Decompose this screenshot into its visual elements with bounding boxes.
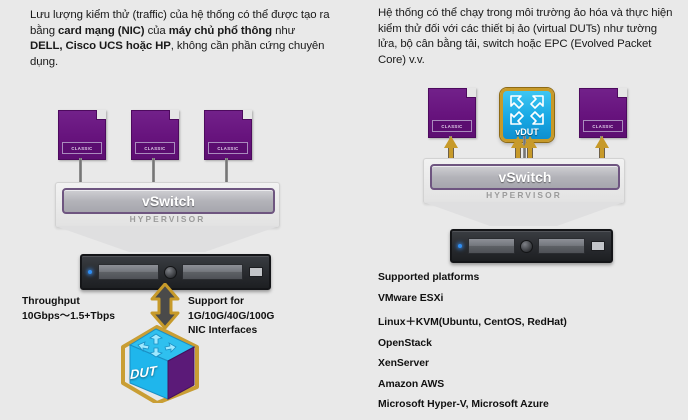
platform-item: Linux＋KVM(Ubuntu, CentOS, RedHat) (378, 313, 567, 328)
page-fold-corner-icon (169, 110, 179, 120)
knob-icon (520, 240, 533, 253)
supported-platforms-list: Supported platforms VMware ESXi Linux＋KV… (378, 272, 567, 420)
throughput-title: Throughput (22, 296, 80, 307)
drive-bay-1 (468, 238, 515, 254)
hypervisor-label: HYPERVISOR (56, 214, 279, 224)
platform-item: VMware ESXi (378, 293, 567, 304)
left-description-paragraph: Lưu lượng kiểm thử (traffic) của hệ thốn… (30, 8, 330, 70)
drive-bay-1 (98, 264, 159, 280)
drive-bay-2 (538, 238, 585, 254)
page-fold-corner-icon (617, 88, 627, 98)
hypervisor-funnel (55, 226, 279, 252)
left-panel: Lưu lượng kiểm thử (traffic) của hệ thốn… (0, 0, 360, 404)
right-panel: Hệ thống có thể chạy trong môi trường ảo… (360, 0, 688, 404)
dut-cube[interactable]: DUT (118, 325, 204, 403)
page-fold-corner-icon (96, 110, 106, 120)
right-description-paragraph: Hệ thống có thể chạy trong môi trường ảo… (378, 6, 678, 68)
power-led-icon (88, 270, 92, 274)
vm-box-classic-2[interactable]: CLASSIC (131, 110, 179, 160)
platform-item: Microsoft Hyper-V, Microsoft Azure (378, 399, 567, 410)
dut-cube-shape (118, 325, 204, 403)
vm-tag-label: CLASSIC (62, 142, 102, 154)
hypervisor-label: HYPERVISOR (424, 190, 624, 200)
support-line-2: 1G/10G/40G/100G (188, 311, 274, 322)
platform-item: Amazon AWS (378, 379, 567, 390)
vm-tag-label: CLASSIC (135, 142, 175, 154)
port-icon (249, 267, 263, 277)
vm-box-classic-1[interactable]: CLASSIC (58, 110, 106, 160)
vm-box-classic-3[interactable]: CLASSIC (204, 110, 252, 160)
drive-bay-2 (182, 264, 243, 280)
four-way-arrows-icon (508, 93, 546, 127)
throughput-value: 10Gbps～1.5+Tbps (22, 311, 115, 322)
port-icon (591, 241, 605, 251)
support-line-1: Support for (188, 296, 244, 307)
platform-item: XenServer (378, 358, 567, 369)
platform-item: OpenStack (378, 338, 567, 349)
knob-icon (164, 266, 177, 279)
vswitch-box[interactable]: vSwitch (62, 188, 275, 214)
page-fold-corner-icon (242, 110, 252, 120)
vswitch-box-right[interactable]: vSwitch (430, 164, 620, 190)
bidirectional-traffic-arrow (148, 283, 182, 329)
hypervisor-funnel-right (423, 202, 624, 226)
vm-tag-label: CLASSIC (208, 142, 248, 154)
server-appliance-right[interactable] (450, 229, 613, 263)
platform-item: Supported platforms (378, 272, 567, 283)
throughput-label: Throughput 10Gbps～1.5+Tbps (22, 295, 115, 324)
page-fold-corner-icon (466, 88, 476, 98)
power-led-icon (458, 244, 462, 248)
